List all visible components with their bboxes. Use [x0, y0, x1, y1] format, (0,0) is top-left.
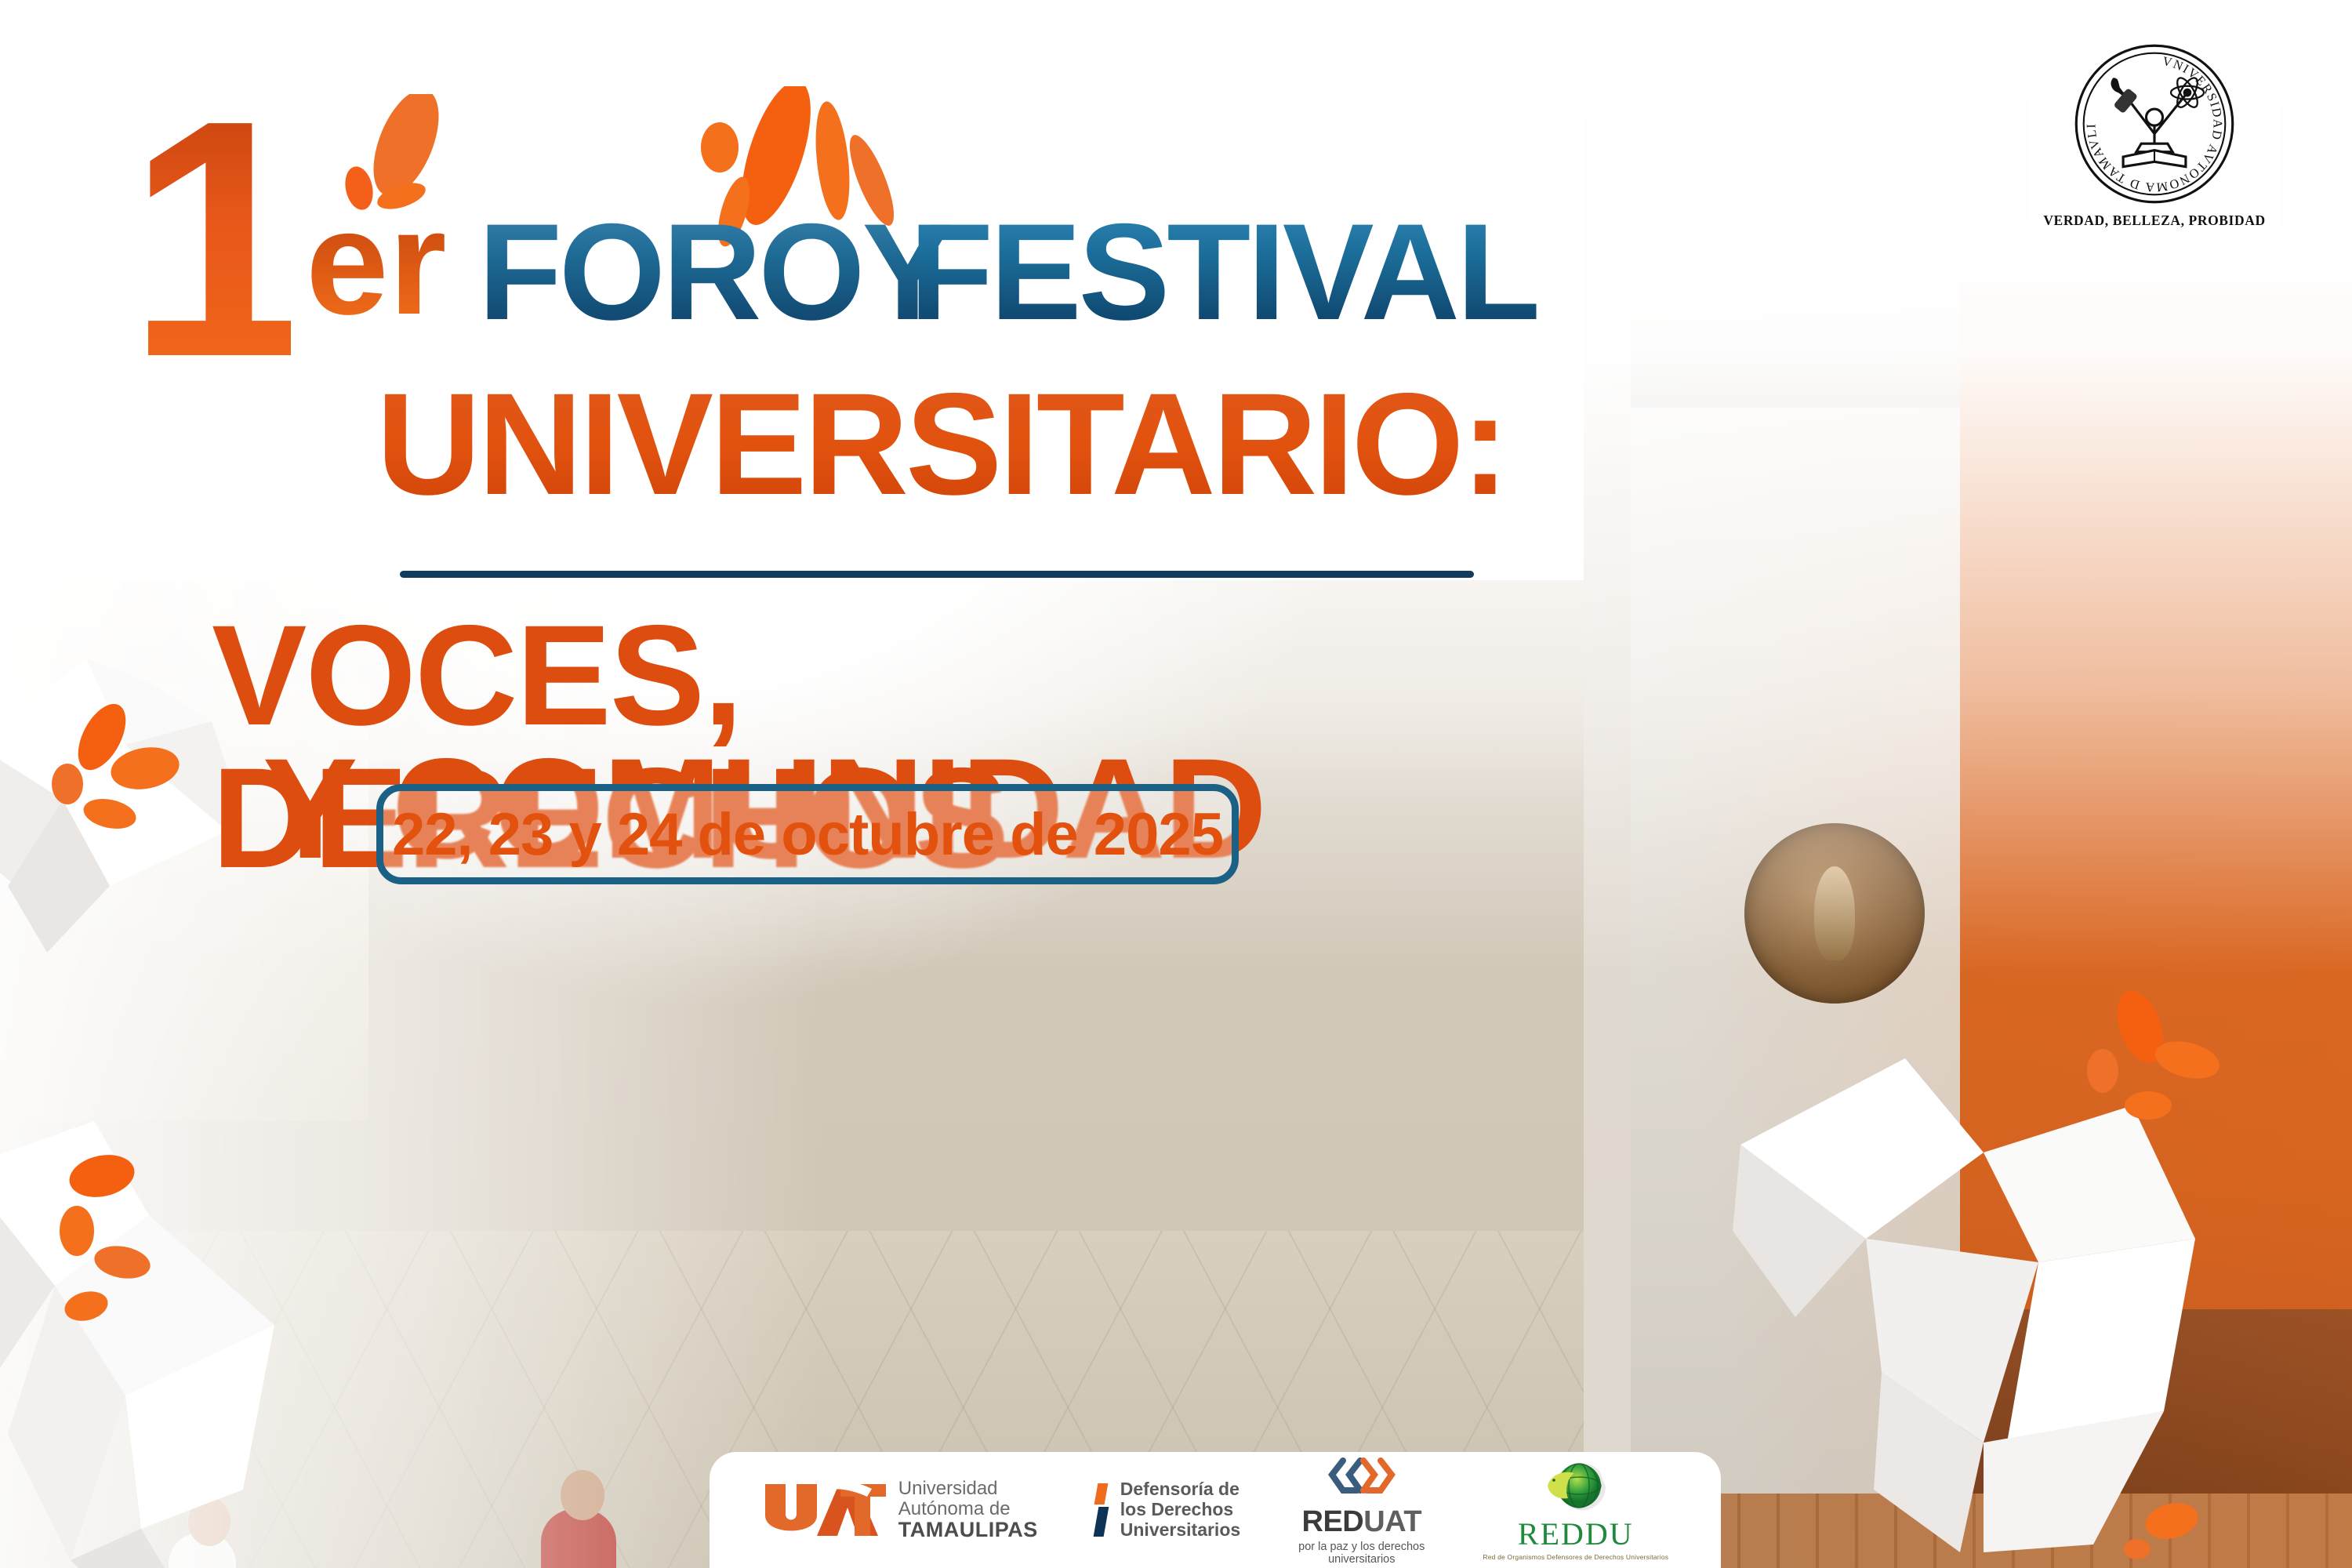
title-word-universitario: UNIVERSITARIO: [376, 372, 1506, 517]
university-seal-icon: VNIVERSIDAD AVTONOMA D TAMAVLIPAS [2072, 42, 2237, 206]
logo-uat: Universidad Autónoma de TAMAULIPAS [762, 1479, 1038, 1541]
title-word-foro-y: FOROY [478, 204, 950, 341]
red-uat-knot-icon [1326, 1454, 1398, 1503]
defensoria-line-1: Defensoría de [1120, 1479, 1240, 1500]
date-badge: 22, 23 y 24 de octubre de 2025 [376, 784, 1239, 884]
presenter-1-head [188, 1497, 230, 1546]
defensoria-bar-orange [1094, 1483, 1108, 1504]
logo-reddu: REDDU Red de Organismos Defensores de De… [1483, 1459, 1668, 1561]
date-text: 22, 23 y 24 de octubre de 2025 [392, 800, 1223, 869]
uat-line-3: TAMAULIPAS [898, 1519, 1038, 1541]
university-seal-card: VNIVERSIDAD AVTONOMA D TAMAVLIPAS VERDAD… [2029, 0, 2280, 248]
red-uat-word-uat: UAT [1363, 1505, 1421, 1538]
building-emblem [1744, 823, 1925, 1004]
logo-defensoria: Defensoría de los Derechos Universitario… [1096, 1479, 1240, 1540]
title-divider-rule [400, 571, 1474, 578]
uat-wordmark: Universidad Autónoma de TAMAULIPAS [898, 1479, 1038, 1541]
sponsor-logo-bar: Universidad Autónoma de TAMAULIPAS Defen… [710, 1452, 1721, 1568]
red-uat-tagline-1: por la paz y los derechos [1298, 1541, 1425, 1553]
red-uat-word-red: RED [1302, 1505, 1364, 1538]
defensoria-bar-blue [1093, 1507, 1109, 1537]
defensoria-wordmark: Defensoría de los Derechos Universitario… [1120, 1479, 1240, 1540]
defensoria-line-3: Universitarios [1120, 1520, 1240, 1541]
reddu-globe-dove-icon [1538, 1459, 1613, 1514]
presenter-2-head [561, 1470, 604, 1520]
red-uat-tagline: por la paz y los derechos universitarios [1298, 1541, 1425, 1566]
red-uat-tagline-2: universitarios [1328, 1553, 1395, 1566]
ordinal-suffix: er [306, 188, 447, 337]
reddu-wordmark: REDDU [1518, 1515, 1634, 1552]
logo-red-uat: REDUAT por la paz y los derechos univers… [1298, 1454, 1425, 1566]
red-uat-wordmark: REDUAT [1302, 1505, 1422, 1539]
concrete-lintel [1631, 306, 1960, 408]
poster-root: 1 er FOROY FESTIVAL UNIVERSITARIO: VOCES… [0, 0, 2352, 1568]
defensoria-line-2: los Derechos [1120, 1500, 1240, 1520]
uat-line-2: Autónoma de [898, 1499, 1038, 1519]
reddu-tagline: Red de Organismos Defensores de Derechos… [1483, 1553, 1668, 1561]
uat-line-1: Universidad [898, 1479, 1038, 1498]
title-line-1: 1 er FOROY FESTIVAL [118, 102, 1544, 282]
ordinal-number: 1 [127, 71, 291, 408]
seal-motto: VERDAD, BELLEZA, PROBIDAD [2043, 212, 2265, 229]
defensoria-bars-icon [1096, 1483, 1106, 1537]
title-block: 1 er FOROY FESTIVAL UNIVERSITARIO: VOCES… [118, 102, 1544, 282]
title-word-festival: FESTIVAL [909, 204, 1537, 341]
uat-monogram-icon [762, 1481, 887, 1539]
